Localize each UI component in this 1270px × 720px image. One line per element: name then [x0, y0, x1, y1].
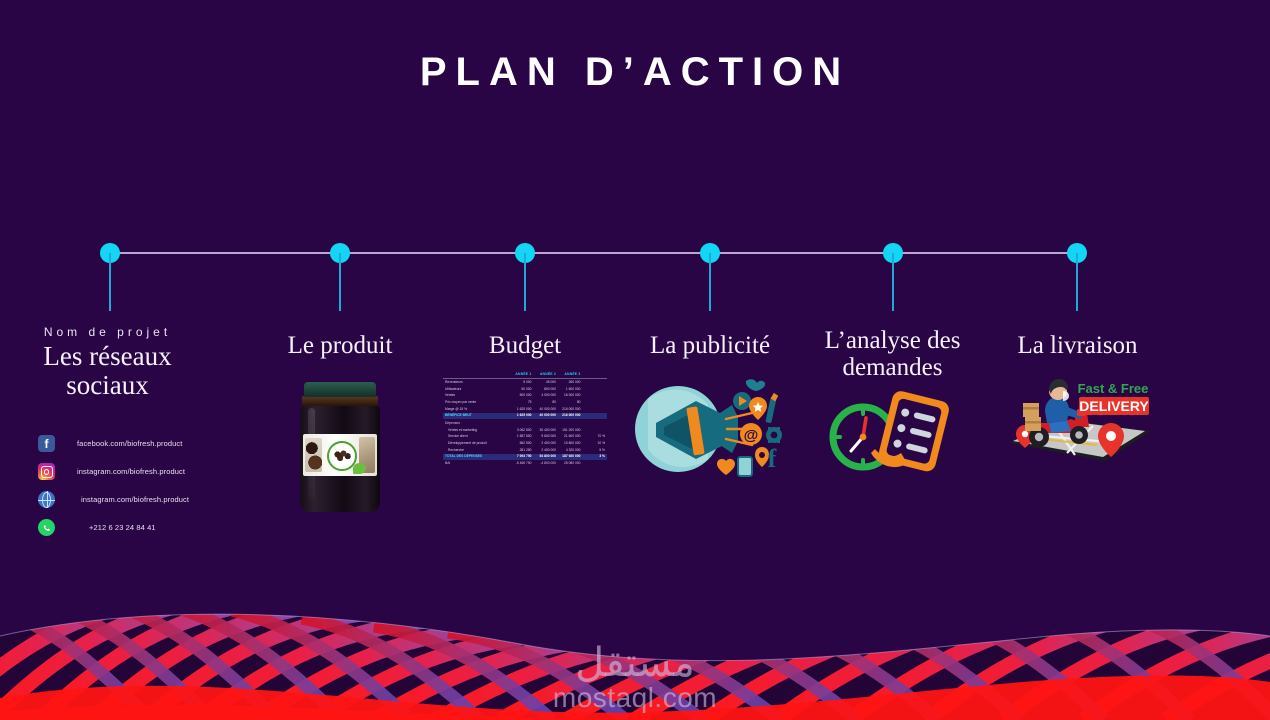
social-row-website[interactable]: instagram.com/biofresh.product: [38, 486, 215, 513]
budget-cell-11-1: 7 093 750: [509, 454, 534, 461]
page-title: PLAN D’ACTION: [0, 52, 1270, 92]
timeline-step-la-livraison[interactable]: La livraison: [990, 332, 1165, 467]
budget-cell-1-4: [583, 386, 608, 393]
budget-cell-5-3: 216 000 000: [558, 413, 583, 420]
budget-cell-12-3: 28 080 000: [558, 460, 583, 467]
facebook-icon: f: [38, 435, 55, 452]
step-title-reseaux-sociaux: Les réseaux sociaux: [0, 342, 215, 400]
budget-cell-12-1: -5 468 750: [509, 460, 534, 467]
budget-cell-6-4: [583, 419, 608, 427]
svg-text:f: f: [768, 444, 777, 473]
budget-table-header-row: ANNÉE 1ANNÉE 2ANNÉE 3: [443, 371, 607, 379]
budget-cell-1-1: 50 000: [509, 386, 534, 393]
budget-cell-10-1: 281 250: [509, 447, 534, 454]
timeline-stem-5: [892, 253, 894, 311]
budget-table-row: Dépenses: [443, 419, 607, 427]
timeline-stem-3: [524, 253, 526, 311]
budget-table-row: Ventes et marketing3 062 50030 400 00015…: [443, 427, 607, 434]
budget-col-header-3: ANNÉE 3: [558, 371, 583, 379]
budget-cell-5-4: [583, 413, 608, 420]
budget-table-row: TOTAL DES DÉPENSES7 093 75054 800 000187…: [443, 454, 607, 461]
timeline-step-reseaux-sociaux[interactable]: Nom de projet Les réseaux sociaux f face…: [0, 325, 215, 542]
budget-cell-7-0: Ventes et marketing: [443, 427, 509, 434]
budget-cell-8-2: 9 600 000: [534, 434, 559, 441]
budget-cell-4-1: 1 625 000: [509, 406, 534, 413]
budget-cell-3-4: [583, 399, 608, 406]
budget-cell-4-3: 216 000 000: [558, 406, 583, 413]
instagram-url: instagram.com/biofresh.product: [77, 467, 185, 476]
budget-cell-0-1: 5 000: [509, 379, 534, 386]
timeline-stem-4: [709, 253, 711, 311]
budget-table-row: BAI-5 468 750-4 800 00028 080 000: [443, 460, 607, 467]
budget-cell-7-1: 3 062 500: [509, 427, 534, 434]
social-row-whatsapp[interactable]: +212 6 23 24 84 41: [38, 514, 215, 541]
svg-text:@: @: [744, 427, 759, 444]
social-row-instagram[interactable]: instagram.com/biofresh.product: [38, 458, 215, 485]
budget-cell-12-2: -4 800 000: [534, 460, 559, 467]
budget-cell-12-4: [583, 460, 608, 467]
advertising-illustration: @ f: [634, 375, 786, 479]
budget-cell-5-1: 1 625 000: [509, 413, 534, 420]
budget-cell-3-0: Prix moyen par vente: [443, 399, 509, 406]
budget-cell-12-0: BAI: [443, 460, 509, 467]
globe-icon: [38, 491, 55, 508]
project-name-label: Nom de projet: [0, 325, 215, 339]
budget-cell-4-2: 40 000 000: [534, 406, 559, 413]
budget-cell-4-0: Marge @ 15 %: [443, 406, 509, 413]
timeline-axis: [110, 252, 1077, 254]
budget-col-header-4: [583, 371, 608, 379]
budget-table-row: Recherche281 2502 400 0004 320 0005 %: [443, 447, 607, 454]
budget-cell-11-0: TOTAL DES DÉPENSES: [443, 454, 509, 461]
budget-cell-8-4: 70 %: [583, 434, 608, 441]
bottom-decoration: [0, 580, 1270, 720]
analysis-illustration: [829, 387, 957, 473]
budget-table-row: Marge @ 15 %1 625 00040 000 000216 000 0…: [443, 406, 607, 413]
budget-cell-4-4: [583, 406, 608, 413]
budget-cell-8-1: 1 687 500: [509, 434, 534, 441]
budget-cell-6-1: [509, 419, 534, 427]
budget-cell-1-3: 1 600 000: [558, 386, 583, 393]
budget-cell-8-3: 21 600 000: [558, 434, 583, 441]
budget-cell-11-2: 54 800 000: [534, 454, 559, 461]
budget-table-row: Utilisateurs50 000800 0001 600 000: [443, 386, 607, 393]
budget-cell-7-3: 151 200 000: [558, 427, 583, 434]
budget-cell-2-2: 4 000 000: [534, 393, 559, 400]
budget-col-header-2: ANNÉE 2: [534, 371, 559, 379]
timeline-stem-6: [1076, 253, 1078, 311]
budget-col-header-0: [443, 371, 509, 379]
website-url: instagram.com/biofresh.product: [81, 495, 189, 504]
budget-cell-3-3: 80: [558, 399, 583, 406]
facebook-url: facebook.com/biofresh.product: [77, 439, 182, 448]
step-title-la-publicite: La publicité: [620, 332, 800, 359]
delivery-art-line1: Fast & Free: [1077, 381, 1148, 396]
budget-cell-9-1: 562 500: [509, 441, 534, 448]
budget-cell-9-0: Développement de produit: [443, 441, 509, 448]
budget-cell-10-0: Recherche: [443, 447, 509, 454]
budget-cell-6-2: [534, 419, 559, 427]
budget-cell-8-0: Service client: [443, 434, 509, 441]
instagram-icon: [38, 463, 55, 480]
budget-col-header-1: ANNÉE 1: [509, 371, 534, 379]
timeline-step-budget[interactable]: Budget ANNÉE 1ANNÉE 2ANNÉE 3 Revendeurs5…: [440, 332, 610, 467]
slide-canvas: PLAN D’ACTION Nom de projet Les réseaux …: [0, 0, 1270, 720]
budget-cell-0-0: Revendeurs: [443, 379, 509, 386]
budget-cell-2-3: 16 000 000: [558, 393, 583, 400]
budget-cell-0-2: 45 000: [534, 379, 559, 386]
budget-table-row: Revendeurs5 00045 000260 000: [443, 379, 607, 386]
budget-cell-9-3: 10 800 000: [558, 441, 583, 448]
budget-table-body: Revendeurs5 00045 000260 000Utilisateurs…: [443, 379, 607, 467]
budget-cell-6-0: Dépenses: [443, 419, 509, 427]
timeline-stem-1: [109, 253, 111, 311]
budget-table-row: Ventes500 0004 000 00016 000 000: [443, 393, 607, 400]
step-title-budget: Budget: [440, 332, 610, 359]
step-title-le-produit: Le produit: [250, 332, 430, 359]
budget-cell-10-4: 5 %: [583, 447, 608, 454]
budget-table-row: Développement de produit562 5002 400 000…: [443, 441, 607, 448]
budget-cell-5-0: BÉNÉFICE BRUT: [443, 413, 509, 420]
budget-cell-11-4: 3 %: [583, 454, 608, 461]
social-links-list: f facebook.com/biofresh.product instagra…: [0, 430, 215, 541]
budget-cell-11-3: 187 920 000: [558, 454, 583, 461]
budget-cell-6-3: [558, 419, 583, 427]
social-row-facebook[interactable]: f facebook.com/biofresh.product: [38, 430, 215, 457]
budget-cell-2-1: 500 000: [509, 393, 534, 400]
budget-cell-1-0: Utilisateurs: [443, 386, 509, 393]
budget-cell-2-0: Ventes: [443, 393, 509, 400]
budget-cell-3-1: 75: [509, 399, 534, 406]
step-title-lanalyse-des-demandes: L’analyse des demandes: [805, 327, 980, 381]
delivery-illustration: Fast & Free DELIVERY: [1001, 371, 1155, 467]
budget-table-row: BÉNÉFICE BRUT1 625 00040 000 000216 000 …: [443, 413, 607, 420]
budget-cell-10-2: 2 400 000: [534, 447, 559, 454]
whatsapp-icon: [38, 519, 55, 536]
whatsapp-phone: +212 6 23 24 84 41: [89, 523, 156, 532]
budget-cell-3-2: 80: [534, 399, 559, 406]
budget-cell-10-3: 4 320 000: [558, 447, 583, 454]
timeline-step-lanalyse-des-demandes[interactable]: L’analyse des demandes: [805, 327, 980, 473]
budget-table-row: Prix moyen par vente758080: [443, 399, 607, 406]
budget-cell-7-2: 30 400 000: [534, 427, 559, 434]
budget-cell-1-2: 800 000: [534, 386, 559, 393]
budget-cell-0-4: [583, 379, 608, 386]
budget-table: ANNÉE 1ANNÉE 2ANNÉE 3 Revendeurs5 00045 …: [443, 371, 607, 467]
budget-cell-7-4: [583, 427, 608, 434]
step-title-la-livraison: La livraison: [990, 332, 1165, 359]
timeline-step-la-publicite[interactable]: La publicité: [620, 332, 800, 479]
budget-cell-9-2: 2 400 000: [534, 441, 559, 448]
budget-table-row: Service client1 687 5009 600 00021 600 0…: [443, 434, 607, 441]
delivery-art-line2: DELIVERY: [1079, 398, 1149, 414]
budget-cell-2-4: [583, 393, 608, 400]
timeline-stem-2: [339, 253, 341, 311]
timeline-step-le-produit[interactable]: Le produit: [250, 332, 430, 512]
product-jar-image: [300, 382, 380, 512]
budget-cell-9-4: 10 %: [583, 441, 608, 448]
budget-cell-5-2: 40 000 000: [534, 413, 559, 420]
budget-cell-0-3: 260 000: [558, 379, 583, 386]
